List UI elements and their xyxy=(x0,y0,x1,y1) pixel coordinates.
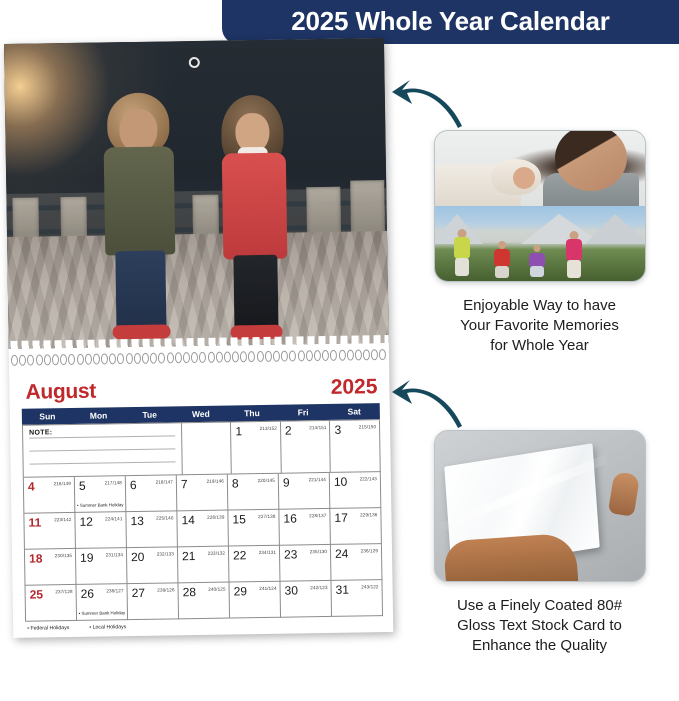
day-of-year: 231/134 xyxy=(106,552,123,557)
binding-loop xyxy=(347,350,354,361)
binding-loop xyxy=(68,354,75,365)
day-number: 8 xyxy=(232,477,239,489)
photo-family-hiking xyxy=(435,206,645,281)
day-number: 14 xyxy=(181,514,195,526)
day-of-year: 237/128 xyxy=(55,589,72,594)
day-of-year: 216/149 xyxy=(54,481,71,486)
child-girl xyxy=(217,95,293,340)
day-number: 18 xyxy=(29,552,43,564)
day-cell-16[interactable]: 16228/137 xyxy=(279,509,331,546)
day-cell-13[interactable]: 13225/140 xyxy=(126,511,178,548)
day-cell-15[interactable]: 15227/138 xyxy=(228,510,280,547)
binding-loop xyxy=(371,349,378,360)
day-of-year: 243/122 xyxy=(361,584,378,589)
binding-loop xyxy=(224,351,231,362)
binding-loop xyxy=(265,351,272,362)
day-number: 21 xyxy=(182,550,196,562)
day-number: 19 xyxy=(80,552,94,564)
note-area[interactable]: NOTE: xyxy=(23,423,183,477)
calendar-week-row: 11223/14212224/14113225/14014226/1391522… xyxy=(24,508,382,550)
day-cell-21[interactable]: 21233/132 xyxy=(178,547,230,584)
day-number: 4 xyxy=(28,481,35,493)
binding-loop xyxy=(158,353,165,364)
binding-loop xyxy=(363,349,370,360)
baby-face xyxy=(513,167,535,189)
caption-line: Use a Finely Coated 80# xyxy=(400,596,679,616)
binding-loop xyxy=(355,349,362,360)
binding-loop xyxy=(322,350,329,361)
day-of-year: 240/125 xyxy=(208,587,225,592)
weekday-fri: Fri xyxy=(277,404,328,421)
boy-jeans xyxy=(115,250,166,329)
day-of-year: 220/145 xyxy=(258,478,275,483)
photo-father-and-baby xyxy=(435,131,645,206)
day-cell-19[interactable]: 19231/134 xyxy=(76,548,128,585)
spiral-binding xyxy=(9,343,389,379)
binding-loop xyxy=(117,353,124,364)
day-cell-11[interactable]: 11223/142 xyxy=(24,513,76,550)
day-of-year: 221/144 xyxy=(309,477,326,482)
binding-loop xyxy=(60,354,67,365)
day-cell-28[interactable]: 28240/125 xyxy=(178,583,230,620)
day-cell-8[interactable]: 8220/145 xyxy=(228,474,280,511)
hand-palm xyxy=(443,532,579,582)
hiker-father xyxy=(449,229,475,279)
arrow-to-calendar-paper xyxy=(388,376,464,432)
day-of-year: 235/130 xyxy=(310,549,327,554)
day-number: 25 xyxy=(30,588,44,600)
photo-glossy-paper xyxy=(435,431,645,581)
day-number: 28 xyxy=(183,586,197,598)
binding-loop xyxy=(93,354,100,365)
day-of-year: 234/131 xyxy=(259,550,276,555)
binding-loop xyxy=(248,351,255,362)
feature-memories: Enjoyable Way to have Your Favorite Memo… xyxy=(400,130,679,355)
girl-leggings xyxy=(233,255,278,332)
binding-loop xyxy=(134,353,141,364)
day-cell-26[interactable]: 26238/127• Summer Bank Holiday xyxy=(77,584,129,621)
day-number: 26 xyxy=(81,588,95,600)
day-cell-5[interactable]: 5217/148• Summer Bank Holiday xyxy=(75,476,127,513)
binding-loop xyxy=(52,354,59,365)
binding-loop xyxy=(338,350,345,361)
day-of-year: 217/148 xyxy=(105,480,122,485)
day-of-year: 233/132 xyxy=(208,551,225,556)
day-number: 16 xyxy=(283,512,297,524)
calendar-product-image: August 2025 SunMonTueWedThuFriSat NOTE:1… xyxy=(4,38,398,684)
day-number: 9 xyxy=(283,477,290,489)
day-number: 22 xyxy=(233,549,247,561)
binding-loop xyxy=(379,349,386,360)
day-cell-29[interactable]: 29241/124 xyxy=(229,582,281,619)
binding-loop xyxy=(27,355,34,366)
day-of-year: 227/138 xyxy=(258,514,275,519)
month-header: August 2025 xyxy=(9,373,389,407)
day-number: 30 xyxy=(285,584,299,596)
day-of-year: 223/142 xyxy=(54,517,71,522)
feature-memories-caption: Enjoyable Way to have Your Favorite Memo… xyxy=(400,296,679,355)
day-of-year: 213/152 xyxy=(260,426,277,431)
legend-item: • Federal Holidays xyxy=(27,625,69,632)
binding-loop xyxy=(183,352,190,363)
day-cell-17[interactable]: 17229/136 xyxy=(330,508,382,545)
weekday-sun: Sun xyxy=(22,408,73,425)
binding-loop xyxy=(101,353,108,364)
binding-loop xyxy=(232,351,239,362)
binding-loop xyxy=(199,352,206,363)
feature-paper-stock-caption: Use a Finely Coated 80# Gloss Text Stock… xyxy=(400,596,679,655)
binding-loop xyxy=(166,352,173,363)
calendar-week-row: NOTE:1213/1522214/1513215/150 xyxy=(23,420,381,478)
cobblestone-ground xyxy=(7,231,389,349)
feature-paper-stock-image xyxy=(434,430,646,582)
day-cell-1[interactable]: 1213/152 xyxy=(231,422,281,475)
binding-loop xyxy=(19,355,26,366)
day-number: 7 xyxy=(181,478,188,490)
child-boy xyxy=(101,92,179,341)
day-of-year: 225/140 xyxy=(156,515,173,520)
binding-loop xyxy=(142,353,149,364)
caption-line: Your Favorite Memories xyxy=(400,316,679,336)
feature-memories-image xyxy=(434,130,646,282)
boy-shoes xyxy=(112,324,170,339)
day-of-year: 224/141 xyxy=(105,516,122,521)
day-number: 1 xyxy=(235,425,242,437)
day-number: 31 xyxy=(336,584,350,596)
day-of-year: 239/126 xyxy=(157,587,174,592)
hand-thumb xyxy=(607,471,639,517)
arrow-to-calendar-photo xyxy=(388,76,464,132)
day-of-year: 228/137 xyxy=(309,513,326,518)
day-number: 5 xyxy=(79,480,86,492)
binding-loop xyxy=(35,354,42,365)
binding-loop xyxy=(44,354,51,365)
day-number: 12 xyxy=(79,516,93,528)
father-head xyxy=(555,131,627,191)
day-cell-18[interactable]: 18230/135 xyxy=(25,549,77,586)
day-cell-empty[interactable] xyxy=(182,422,232,475)
day-cell-3[interactable]: 3215/150 xyxy=(330,420,380,473)
day-number: 3 xyxy=(334,424,341,436)
day-of-year: 219/146 xyxy=(207,479,224,484)
page-title: 2025 Whole Year Calendar xyxy=(291,6,609,37)
hiker-mother xyxy=(561,231,587,279)
calendar-photo xyxy=(4,38,389,349)
month-name: August xyxy=(25,380,96,405)
day-of-year: 230/135 xyxy=(55,553,72,558)
gloss-highlight xyxy=(437,453,609,532)
day-cell-27[interactable]: 27239/126 xyxy=(127,583,179,620)
binding-loop xyxy=(150,353,157,364)
day-number: 24 xyxy=(335,548,349,560)
hiker-child-red xyxy=(491,241,513,279)
day-cell-10[interactable]: 10222/143 xyxy=(330,472,382,509)
girl-red-coat xyxy=(222,153,288,260)
weekday-wed: Wed xyxy=(175,406,226,423)
binding-loop xyxy=(207,352,214,363)
legend-item: • Local Holidays xyxy=(89,624,126,631)
day-of-year: 214/151 xyxy=(309,425,326,430)
day-number: 10 xyxy=(334,476,348,488)
binding-loop xyxy=(11,355,18,366)
day-cell-25[interactable]: 25237/128 xyxy=(26,585,78,622)
caption-line: for Whole Year xyxy=(400,336,679,356)
boy-jacket xyxy=(104,146,176,255)
day-cell-6[interactable]: 6218/147 xyxy=(126,475,178,512)
day-of-year: 242/123 xyxy=(310,585,327,590)
binding-loop xyxy=(297,350,304,361)
feature-paper-stock: Use a Finely Coated 80# Gloss Text Stock… xyxy=(400,430,679,655)
binding-loop xyxy=(175,352,182,363)
day-of-year: 215/150 xyxy=(359,424,376,429)
holiday-label: • Summer Bank Holiday xyxy=(77,610,127,617)
day-of-year: 232/133 xyxy=(157,551,174,556)
day-cell-24[interactable]: 24236/129 xyxy=(331,544,383,581)
weekday-mon: Mon xyxy=(73,407,124,424)
caption-line: Enjoyable Way to have xyxy=(400,296,679,316)
binding-loop xyxy=(330,350,337,361)
day-number: 27 xyxy=(132,587,146,599)
calendar-week-row: 18230/13519231/13420232/13321233/1322223… xyxy=(25,544,383,586)
binding-loop xyxy=(76,354,83,365)
day-cell-7[interactable]: 7219/146 xyxy=(177,475,229,512)
binding-loop xyxy=(240,351,247,362)
day-cell-22[interactable]: 22234/131 xyxy=(229,546,281,583)
binding-loop xyxy=(306,350,313,361)
calendar-week-row: 25237/12826238/127• Summer Bank Holiday2… xyxy=(26,580,384,622)
day-cell-9[interactable]: 9221/144 xyxy=(279,473,331,510)
binding-loop xyxy=(256,351,263,362)
binding-loop xyxy=(191,352,198,363)
day-cell-4[interactable]: 4216/149 xyxy=(24,477,76,514)
day-cell-12[interactable]: 12224/141 xyxy=(75,512,127,549)
weekday-sat: Sat xyxy=(329,403,380,420)
day-number: 11 xyxy=(28,516,41,528)
binding-loop xyxy=(273,351,280,362)
binding-loop xyxy=(109,353,116,364)
month-year: 2025 xyxy=(331,375,378,400)
day-cell-23[interactable]: 23235/130 xyxy=(280,545,332,582)
wall-calendar: August 2025 SunMonTueWedThuFriSat NOTE:1… xyxy=(4,38,393,638)
caption-line: Gloss Text Stock Card to xyxy=(400,616,679,636)
binding-loop xyxy=(289,350,296,361)
calendar-grid: NOTE:1213/1522214/1513215/1504216/149521… xyxy=(22,419,383,622)
title-banner: 2025 Whole Year Calendar xyxy=(222,0,679,44)
day-number: 20 xyxy=(131,551,145,563)
weekday-tue: Tue xyxy=(124,406,175,423)
day-cell-2[interactable]: 2214/151 xyxy=(281,421,331,474)
day-of-year: 218/147 xyxy=(156,479,173,484)
day-number: 23 xyxy=(284,548,298,560)
day-of-year: 229/136 xyxy=(360,512,377,517)
day-number: 6 xyxy=(130,479,137,491)
day-of-year: 222/143 xyxy=(360,476,377,481)
binding-loop xyxy=(314,350,321,361)
day-of-year: 241/124 xyxy=(259,586,276,591)
day-number: 15 xyxy=(232,513,246,525)
day-of-year: 226/139 xyxy=(207,515,224,520)
day-cell-14[interactable]: 14226/139 xyxy=(177,511,229,548)
calendar-week-row: 4216/1495217/148• Summer Bank Holiday621… xyxy=(24,472,382,514)
day-of-year: 238/127 xyxy=(106,588,123,593)
day-cell-20[interactable]: 20232/133 xyxy=(127,547,179,584)
binding-loop xyxy=(216,352,223,363)
mountain xyxy=(585,214,645,244)
day-of-year: 236/129 xyxy=(361,548,378,553)
day-number: 2 xyxy=(285,425,292,437)
hiker-child-purple xyxy=(527,245,547,279)
weekday-thu: Thu xyxy=(226,405,277,422)
holiday-label: • Summer Bank Holiday xyxy=(75,502,125,509)
day-cell-30[interactable]: 30242/123 xyxy=(280,581,332,618)
day-number: 29 xyxy=(234,585,248,597)
day-number: 13 xyxy=(130,515,144,527)
caption-line: Enhance the Quality xyxy=(400,636,679,656)
note-lines xyxy=(29,435,175,476)
binding-loop xyxy=(85,354,92,365)
day-number: 17 xyxy=(334,512,348,524)
day-cell-31[interactable]: 31243/122 xyxy=(331,580,383,617)
binding-loop xyxy=(281,351,288,362)
binding-loop xyxy=(125,353,132,364)
